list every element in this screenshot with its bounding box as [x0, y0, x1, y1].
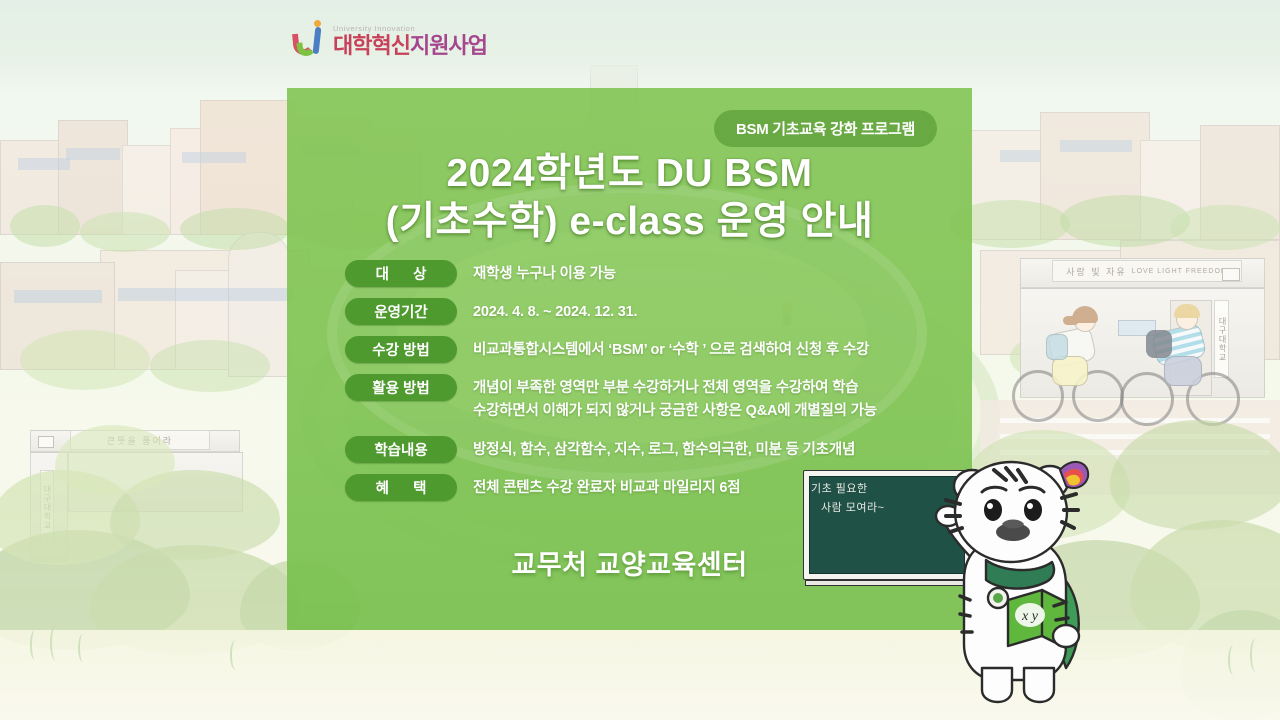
info-row-value: 비교과통합시스템에서 ‘BSM’ or ‘수학 ’ 으로 검색하여 신청 후 수…	[473, 336, 869, 362]
building-window	[18, 158, 70, 170]
logo-wordmark: University Innovation 대학혁신지원사업	[333, 25, 487, 58]
logo-korean-text: 대학혁신지원사업	[333, 35, 487, 57]
tiger-illustration-icon: x y	[890, 440, 1120, 705]
info-row: 대 상재학생 누구나 이용 가능	[345, 260, 935, 287]
program-badge: BSM 기초교육 강화 프로그램	[714, 110, 937, 147]
bush	[55, 425, 175, 495]
info-row: 운영기간2024. 4. 8. ~ 2024. 12. 31.	[345, 298, 935, 325]
building-window	[14, 290, 102, 303]
info-row-value-line: 2024. 4. 8. ~ 2024. 12. 31.	[473, 301, 637, 324]
right-gate-sign-english: LOVE LIGHT FREEDOM	[1132, 268, 1228, 275]
grass-blade	[230, 640, 241, 670]
info-row-value: 2024. 4. 8. ~ 2024. 12. 31.	[473, 298, 637, 324]
right-gate-lamp	[1222, 268, 1240, 281]
university-innovation-logo: University Innovation 대학혁신지원사업	[293, 17, 487, 57]
info-row-value: 방정식, 함수, 삼각함수, 지수, 로그, 함수의극한, 미분 등 기초개념	[473, 436, 855, 462]
info-row-label: 수강 방법	[345, 336, 457, 363]
logo-english-text: University Innovation	[333, 25, 487, 33]
right-gate-sign: 사랑 빛 자유 LOVE LIGHT FREEDOM	[1052, 260, 1242, 282]
building-window	[1000, 150, 1040, 162]
page-title: 2024학년도 DU BSM (기초수학) e-class 운영 안내	[287, 150, 972, 245]
info-row-value-line: 재학생 누구나 이용 가능	[473, 263, 616, 286]
info-row: 수강 방법비교과통합시스템에서 ‘BSM’ or ‘수학 ’ 으로 검색하여 신…	[345, 336, 935, 363]
title-line-1: 2024학년도 DU BSM	[287, 150, 972, 198]
cyclist-legs	[1052, 356, 1088, 386]
grass-blade	[1228, 645, 1239, 675]
tree	[1060, 195, 1190, 247]
info-row-value-line: 비교과통합시스템에서 ‘BSM’ or ‘수학 ’ 으로 검색하여 신청 후 수…	[473, 339, 869, 362]
building-window	[1060, 140, 1132, 152]
info-row: 활용 방법개념이 부족한 영역만 부분 수강하거나 전체 영역을 수강하여 학습…	[345, 374, 935, 423]
info-row-value: 재학생 누구나 이용 가능	[473, 260, 616, 286]
building-window	[118, 288, 293, 301]
logo-j-stem	[313, 27, 322, 54]
cyclist-male	[1120, 300, 1250, 435]
info-row-value-line: 방정식, 함수, 삼각함수, 지수, 로그, 함수의극한, 미분 등 기초개념	[473, 439, 855, 462]
info-row-value-line: 개념이 부족한 영역만 부분 수강하거나 전체 영역을 수강하여 학습	[473, 377, 877, 400]
tree	[150, 340, 270, 392]
info-row-label: 운영기간	[345, 298, 457, 325]
cyclist-backpack	[1046, 334, 1068, 360]
grass-blade	[78, 634, 88, 662]
tree	[80, 212, 170, 252]
tree	[10, 205, 80, 247]
info-row-label: 학습내용	[345, 436, 457, 463]
info-row-value: 개념이 부족한 영역만 부분 수강하거나 전체 영역을 수강하여 학습수강하면서…	[473, 374, 877, 423]
info-row-value: 전체 콘텐츠 수강 완료자 비교과 마일리지 6점	[473, 474, 740, 500]
tree	[180, 208, 290, 250]
title-line-2: (기초수학) e-class 운영 안내	[287, 198, 972, 246]
left-gate-lamp	[38, 436, 54, 448]
cyclist-female	[1010, 300, 1130, 430]
header-band	[0, 0, 1280, 92]
book-label: x y	[1021, 609, 1039, 624]
info-row-label: 활용 방법	[345, 374, 457, 401]
logo-j-dot	[314, 20, 321, 27]
cyclist-ponytail	[1063, 316, 1079, 325]
poster-canvas: 큰뜻을 품어라 대구대학교 사랑 빛 자유 LOVE LIGHT FREEDOM…	[0, 0, 1280, 720]
tree	[20, 330, 150, 390]
cyclist-backpack	[1146, 330, 1172, 358]
logo-korean-part2: 지원사업	[410, 33, 487, 58]
info-row-label: 혜 택	[345, 474, 457, 501]
cyclist-hair	[1174, 304, 1200, 318]
right-gate-sign-korean: 사랑 빛 자유	[1066, 265, 1126, 278]
grass-blade	[1250, 638, 1262, 672]
grass-blade	[30, 630, 40, 660]
cyclist-legs	[1164, 356, 1202, 386]
info-row-value-line: 전체 콘텐츠 수강 완료자 비교과 마일리지 6점	[473, 477, 740, 500]
info-row-value-line: 수강하면서 이해가 되지 않거나 궁금한 사항은 Q&A에 개별질의 가능	[473, 400, 877, 423]
info-row-label: 대 상	[345, 260, 457, 287]
tree	[1170, 205, 1280, 250]
info-row: 학습내용방정식, 함수, 삼각함수, 지수, 로그, 함수의극한, 미분 등 기…	[345, 436, 935, 463]
building-window	[182, 152, 246, 163]
logo-korean-part1: 대학혁신	[333, 33, 410, 58]
uj-monogram-icon	[293, 21, 327, 57]
grass-blade	[50, 625, 62, 661]
white-tiger-mascot: x y	[890, 440, 1120, 705]
building-window	[66, 148, 120, 160]
